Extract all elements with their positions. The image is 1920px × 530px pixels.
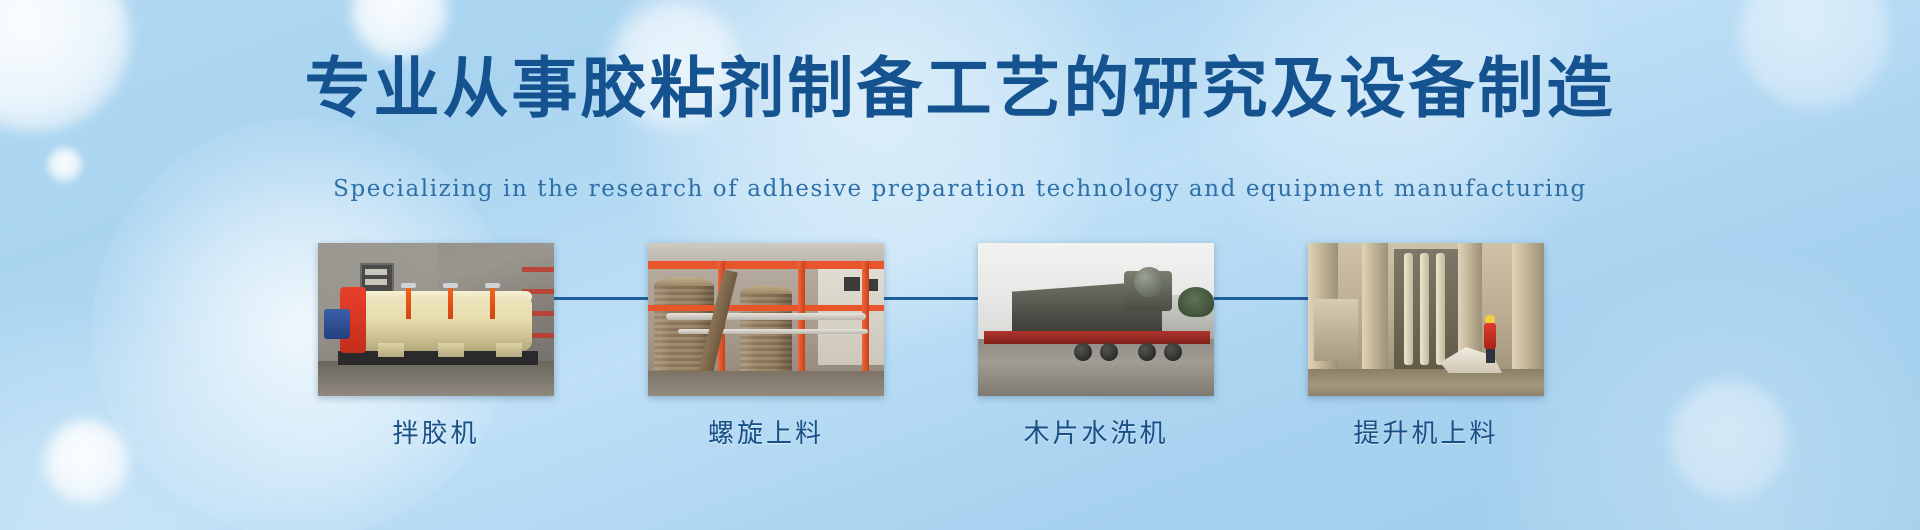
glue-mixer-machine-photo[interactable]	[318, 243, 554, 396]
gallery-item[interactable]: 木片水洗机	[978, 243, 1214, 450]
gallery-item[interactable]: 螺旋上料	[648, 243, 884, 450]
page-subtitle: Specializing in the research of adhesive…	[0, 178, 1920, 201]
hero-banner: 专业从事胶粘剂制备工艺的研究及设备制造 Specializing in the …	[0, 0, 1920, 530]
gallery-item-caption: 螺旋上料	[648, 413, 884, 450]
page-title: 专业从事胶粘剂制备工艺的研究及设备制造	[0, 56, 1920, 122]
gallery-item-caption: 拌胶机	[318, 413, 554, 450]
gallery-item[interactable]: 拌胶机	[318, 243, 554, 450]
gallery-item-caption: 木片水洗机	[978, 413, 1214, 450]
gallery-connector-line	[1214, 297, 1308, 300]
gallery-item[interactable]: 提升机上料	[1308, 243, 1544, 450]
gallery-item-caption: 提升机上料	[1308, 413, 1544, 450]
screw-conveyor-feeding-photo[interactable]	[648, 243, 884, 396]
product-gallery: 拌胶机	[0, 243, 1920, 463]
gallery-connector-line	[884, 297, 978, 300]
bucket-elevator-feeding-photo[interactable]	[1308, 243, 1544, 396]
wood-chip-washing-machine-photo[interactable]	[978, 243, 1214, 396]
gallery-connector-line	[554, 297, 648, 300]
